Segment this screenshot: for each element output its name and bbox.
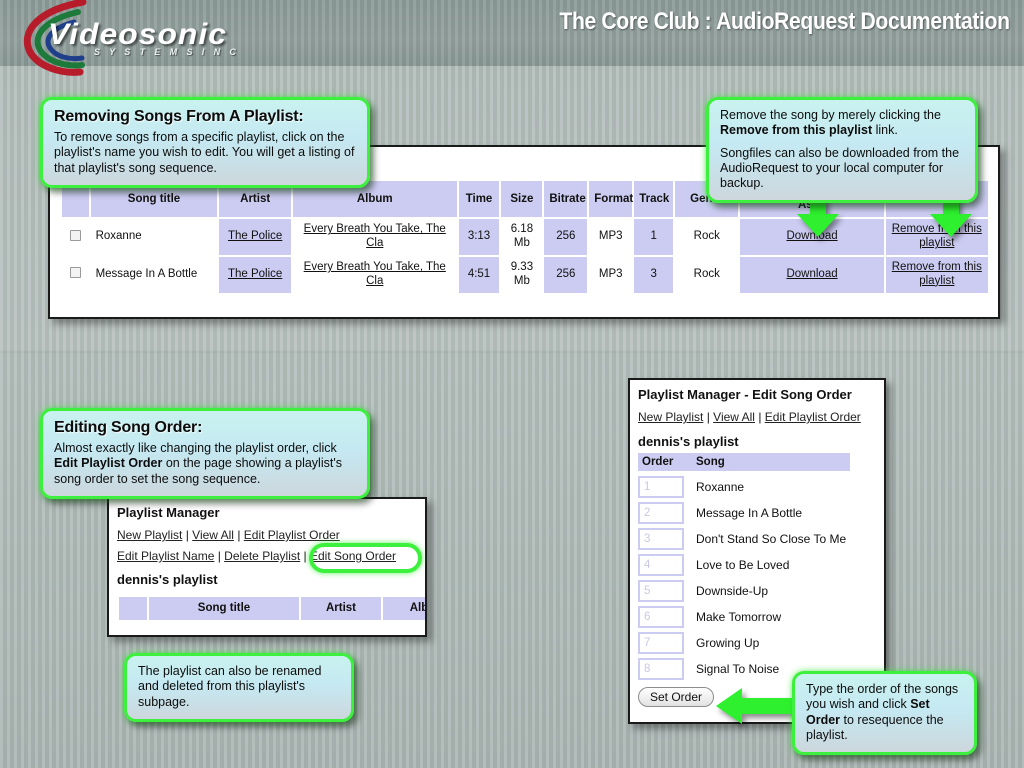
cell-artist[interactable]: The Police	[219, 257, 291, 293]
callout-rename-delete: The playlist can also be renamed and del…	[124, 653, 354, 722]
order-input[interactable]	[638, 554, 684, 576]
order-input[interactable]	[638, 502, 684, 524]
callout-editing-heading: Editing Song Order:	[54, 419, 356, 437]
link-new-playlist[interactable]: New Playlist	[117, 528, 182, 542]
cell-artist[interactable]: The Police	[219, 219, 291, 255]
order-song-label: Signal To Noise	[696, 662, 779, 676]
th-track: Track	[634, 181, 673, 217]
cell-song-title: Message In A Bottle	[91, 257, 218, 293]
playlist-manager-links-row1: New Playlist | View All | Edit Playlist …	[109, 524, 425, 544]
page-title: The Core Club : AudioRequest Documentati…	[560, 8, 1010, 36]
artist-link[interactable]: The Police	[228, 230, 282, 242]
order-input[interactable]	[638, 580, 684, 602]
order-song-label: Downside-Up	[696, 584, 768, 598]
list-item: Downside-Up	[638, 580, 884, 602]
edit-song-order-links: New Playlist | View All | Edit Playlist …	[630, 406, 884, 426]
cell-genre: Rock	[675, 257, 738, 293]
link-new-playlist[interactable]: New Playlist	[638, 410, 703, 424]
order-song-label: Don't Stand So Close To Me	[696, 532, 846, 546]
select-song-checkbox[interactable]	[70, 230, 81, 241]
cell-track: 1	[634, 219, 673, 255]
cell-track: 3	[634, 257, 673, 293]
row-checkbox-cell	[62, 219, 89, 255]
order-input[interactable]	[638, 632, 684, 654]
callout-remove-p1-a: Remove the song by merely clicking the	[720, 108, 941, 122]
th-time: Time	[459, 181, 500, 217]
playlist-manager-header-row: Song title Artist Alb	[119, 597, 427, 620]
list-item: Don't Stand So Close To Me	[638, 528, 884, 550]
order-input[interactable]	[638, 476, 684, 498]
cell-album[interactable]: Every Breath You Take, The Cla	[293, 219, 457, 255]
cell-bitrate: 256	[544, 219, 587, 255]
edit-song-order-title: Playlist Manager - Edit Song Order	[630, 380, 884, 406]
link-view-all[interactable]: View All	[192, 528, 234, 542]
cell-song-title: Roxanne	[91, 219, 218, 255]
order-song-label: Love to Be Loved	[696, 558, 789, 572]
list-item: Roxanne	[638, 476, 884, 498]
cell-bitrate: 256	[544, 257, 587, 293]
edit-song-order-highlight-ring	[309, 543, 422, 573]
link-delete-playlist[interactable]: Delete Playlist	[224, 549, 300, 563]
select-song-checkbox[interactable]	[70, 267, 81, 278]
callout-removing-songs: Removing Songs From A Playlist: To remov…	[40, 97, 370, 188]
list-item: Make Tomorrow	[638, 606, 884, 628]
logo-subtitle: S Y S T E M S I N C	[94, 47, 239, 57]
set-order-button[interactable]: Set Order	[638, 687, 714, 707]
callout-removing-heading: Removing Songs From A Playlist:	[54, 108, 356, 126]
callout-remove-p1: Remove the song by merely clicking the R…	[720, 108, 964, 139]
cell-size: 9.33 Mb	[501, 257, 542, 293]
callout-remove-p2: Songfiles can also be downloaded from th…	[720, 146, 964, 192]
arrow-left-set-order-icon	[716, 686, 800, 726]
videosonic-logo: Videosonic S Y S T E M S I N C	[8, 0, 218, 78]
callout-editing-body-b: Edit Playlist Order	[54, 456, 162, 470]
callout-editing-body: Almost exactly like changing the playlis…	[54, 441, 356, 487]
callout-set-order-body: Type the order of the songs you wish and…	[806, 682, 963, 743]
album-link[interactable]: Every Breath You Take, The Cla	[304, 261, 446, 287]
playlist-manager-title: Playlist Manager	[109, 499, 425, 524]
th-pm-album: Alb	[383, 597, 427, 620]
cell-genre: Rock	[675, 219, 738, 255]
cell-download[interactable]: Download	[740, 257, 883, 293]
order-song-label: Make Tomorrow	[696, 610, 781, 624]
th-format: Format	[589, 181, 632, 217]
link-edit-playlist-order[interactable]: Edit Playlist Order	[765, 410, 861, 424]
callout-remove-p1-b: Remove from this playlist	[720, 123, 872, 137]
cell-time: 3:13	[459, 219, 500, 255]
callout-remove-p1-c: link.	[872, 123, 898, 137]
remove-from-playlist-link[interactable]: Remove from this playlist	[892, 261, 982, 287]
th-song: Song	[688, 456, 725, 468]
callout-removing-body: To remove songs from a specific playlist…	[54, 130, 356, 176]
order-song-label: Roxanne	[696, 480, 744, 494]
list-item: Growing Up	[638, 632, 884, 654]
cell-size: 6.18 Mb	[501, 219, 542, 255]
callout-editing-body-a: Almost exactly like changing the playlis…	[54, 441, 337, 455]
order-input[interactable]	[638, 528, 684, 550]
callout-rename-body: The playlist can also be renamed and del…	[138, 664, 340, 710]
order-song-label: Message In A Bottle	[696, 506, 802, 520]
list-item: Love to Be Loved	[638, 554, 884, 576]
callout-set-order-body-a: Type the order of the songs you wish and…	[806, 682, 958, 711]
playlist-manager-table: Song title Artist Alb	[117, 595, 427, 622]
th-pm-artist: Artist	[301, 597, 381, 620]
callout-editing-song-order: Editing Song Order: Almost exactly like …	[40, 408, 370, 499]
link-edit-playlist-order[interactable]: Edit Playlist Order	[244, 528, 340, 542]
order-input[interactable]	[638, 658, 684, 680]
artist-link[interactable]: The Police	[228, 268, 282, 280]
row-checkbox-cell	[62, 257, 89, 293]
cell-album[interactable]: Every Breath You Take, The Cla	[293, 257, 457, 293]
album-link[interactable]: Every Breath You Take, The Cla	[304, 223, 446, 249]
edit-song-order-playlist-name: dennis's playlist	[630, 426, 884, 453]
cell-format: MP3	[589, 257, 632, 293]
th-pm-song-title: Song title	[149, 597, 299, 620]
order-song-label: Growing Up	[696, 636, 759, 650]
table-row: Roxanne The Police Every Breath You Take…	[62, 219, 988, 255]
order-table-header: Order Song	[638, 453, 850, 471]
link-view-all[interactable]: View All	[713, 410, 755, 424]
th-order: Order	[638, 456, 688, 468]
link-edit-playlist-name[interactable]: Edit Playlist Name	[117, 549, 214, 563]
th-bitrate: Bitrate	[544, 181, 587, 217]
callout-remove-link: Remove the song by merely clicking the R…	[706, 97, 978, 203]
cell-format: MP3	[589, 219, 632, 255]
cell-time: 4:51	[459, 257, 500, 293]
th-pm-checkbox	[119, 597, 147, 620]
download-link[interactable]: Download	[786, 268, 837, 280]
cell-remove[interactable]: Remove from this playlist	[886, 257, 988, 293]
th-size: Size	[501, 181, 542, 217]
callout-set-order: Type the order of the songs you wish and…	[792, 671, 977, 755]
list-item: Message In A Bottle	[638, 502, 884, 524]
order-input[interactable]	[638, 606, 684, 628]
table-row: Message In A Bottle The Police Every Bre…	[62, 257, 988, 293]
